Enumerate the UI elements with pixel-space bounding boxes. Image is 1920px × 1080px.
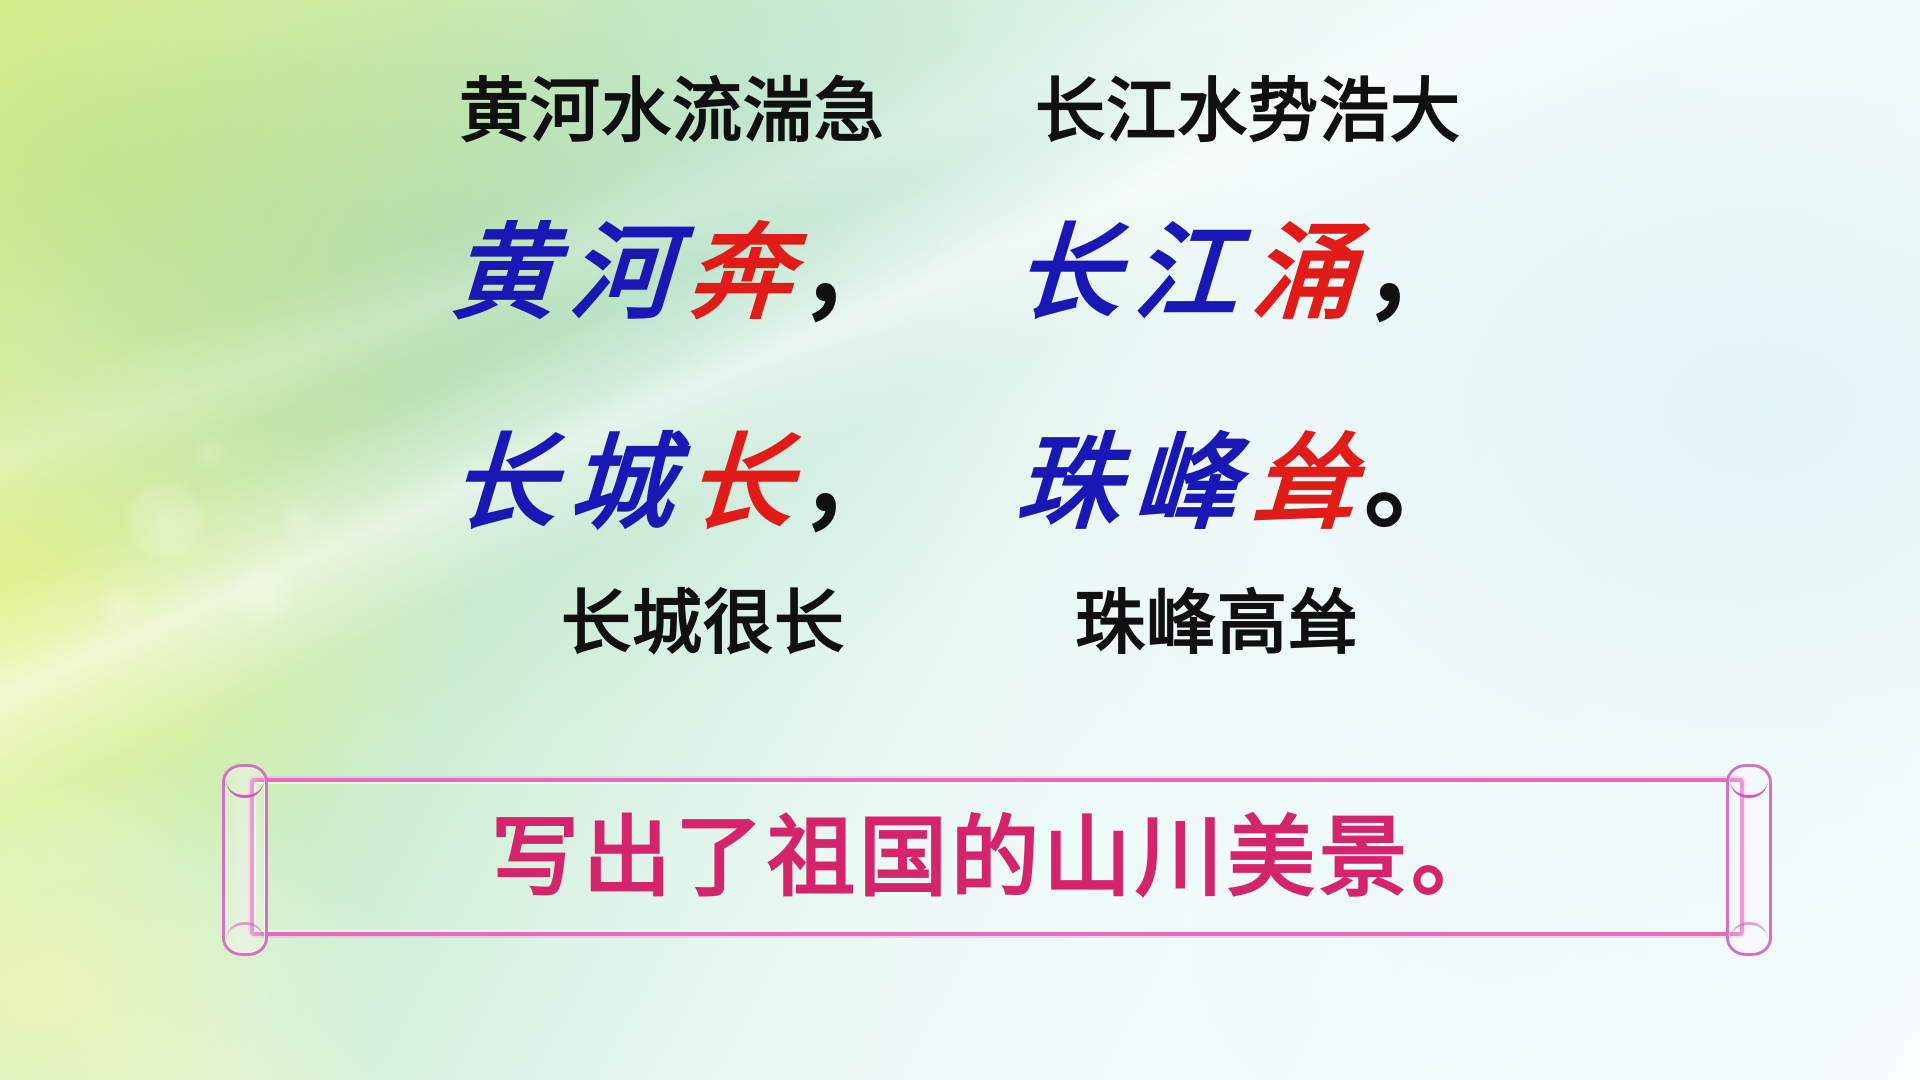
verse-2-clause-right: 珠峰 耸 。 (1016, 428, 1468, 537)
gloss-row-bottom: 长城很长 珠峰高耸 (0, 588, 1920, 658)
verse-1-right-subject: 长江 (1013, 218, 1255, 327)
verse-row-1: 黄河 奔 ， 长江 涌 ， (0, 218, 1920, 327)
gloss-top-left: 黄河水流湍急 (459, 76, 885, 146)
summary-scroll-banner: 写出了祖国的山川美景。 (222, 762, 1772, 952)
verse-1-clause-right: 长江 涌 ， (1016, 218, 1468, 327)
verse-1-right-verb: 涌 (1249, 218, 1373, 327)
slide-content: 黄河水流湍急 长江水势浩大 黄河 奔 ， 长江 涌 ， 长城 长 ， (0, 0, 1920, 1080)
verse-2-right-verb: 耸 (1249, 428, 1373, 537)
verse-2-left-subject: 长城 (449, 428, 691, 537)
verse-2-right-punctuation: 。 (1364, 428, 1468, 537)
verse-1-left-verb: 奔 (685, 218, 809, 327)
verse-2-left-punctuation: ， (800, 428, 904, 537)
banner-summary-label: 写出了祖国的山川美景。 (491, 813, 1503, 901)
slide-canvas: 黄河水流湍急 长江水势浩大 黄河 奔 ， 长江 涌 ， 长城 长 ， (0, 0, 1920, 1080)
gloss-bottom-left: 长城很长 (561, 588, 845, 658)
verse-2-clause-left: 长城 长 ， (452, 428, 904, 537)
gloss-top-right: 长江水势浩大 (1035, 76, 1461, 146)
verse-1-clause-left: 黄河 奔 ， (452, 218, 904, 327)
gloss-bottom-right: 珠峰高耸 (1075, 588, 1359, 658)
verse-2-left-verb: 长 (685, 428, 809, 537)
verse-1-right-punctuation: ， (1364, 218, 1468, 327)
verse-1-left-punctuation: ， (800, 218, 904, 327)
verse-2-right-subject: 珠峰 (1013, 428, 1255, 537)
verse-1-left-subject: 黄河 (449, 218, 691, 327)
banner-text-area: 写出了祖国的山川美景。 (222, 762, 1772, 952)
verse-row-2: 长城 长 ， 珠峰 耸 。 (0, 428, 1920, 537)
gloss-row-top: 黄河水流湍急 长江水势浩大 (0, 76, 1920, 146)
